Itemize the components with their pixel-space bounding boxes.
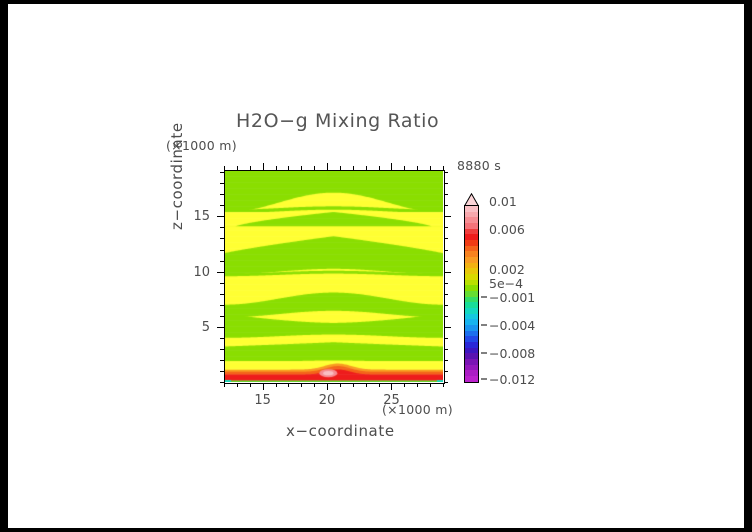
colorbar-tick-label: −0.012 xyxy=(489,372,535,387)
tick-mark xyxy=(263,383,264,390)
tick-mark xyxy=(250,383,251,387)
tick-mark xyxy=(404,383,405,387)
tick-mark xyxy=(444,305,448,306)
tick-mark xyxy=(314,166,315,170)
tick-mark xyxy=(379,166,380,170)
window-border-top xyxy=(0,0,752,4)
tick-mark xyxy=(444,216,451,217)
timestamp-label: 8880 s xyxy=(457,160,501,173)
tick-mark xyxy=(444,261,448,262)
colorbar-tick-label: −0.004 xyxy=(489,318,535,333)
colorbar-tick-label: 5e−4 xyxy=(489,276,523,291)
colorbar-tick-mark xyxy=(481,296,487,298)
tick-mark xyxy=(314,383,315,387)
colorbar-tick-label: 0.01 xyxy=(489,194,517,209)
window-border-bottom xyxy=(0,528,752,532)
x-axis-units-label: (×1000 m) xyxy=(382,404,453,417)
tick-mark xyxy=(220,227,224,228)
tick-mark xyxy=(430,383,431,387)
tick-mark xyxy=(220,371,224,372)
colorbar-tick-label: 0.002 xyxy=(489,262,525,277)
tick-mark xyxy=(220,238,224,239)
colorbar-band xyxy=(465,376,478,382)
page-title: H2O−g Mixing Ratio xyxy=(236,112,439,131)
tick-mark xyxy=(444,183,448,184)
tick-mark xyxy=(417,383,418,387)
tick-mark xyxy=(444,327,451,328)
tick-mark xyxy=(444,294,448,295)
tick-mark xyxy=(327,163,328,170)
tick-mark xyxy=(379,383,380,387)
tick-mark xyxy=(404,166,405,170)
tick-mark xyxy=(220,294,224,295)
tick-mark xyxy=(444,205,448,206)
window-border-right xyxy=(744,0,752,532)
tick-mark xyxy=(220,250,224,251)
x-tick-label: 15 xyxy=(250,393,276,408)
tick-mark xyxy=(220,382,224,383)
x-axis-title: x−coordinate xyxy=(286,424,395,439)
figure-window: H2O−g Mixing Ratio (×1000 m) 8880 s 5101… xyxy=(0,0,752,532)
tick-mark xyxy=(288,166,289,170)
tick-mark xyxy=(444,360,448,361)
tick-mark xyxy=(444,272,451,273)
tick-mark xyxy=(220,349,224,350)
tick-mark xyxy=(301,383,302,387)
tick-mark xyxy=(444,371,448,372)
tick-mark xyxy=(417,166,418,170)
tick-mark xyxy=(237,383,238,387)
tick-mark xyxy=(220,338,224,339)
tick-mark xyxy=(224,166,225,170)
tick-mark xyxy=(353,383,354,387)
tick-mark xyxy=(250,166,251,170)
tick-mark xyxy=(327,383,328,390)
tick-mark xyxy=(301,166,302,170)
tick-mark xyxy=(220,183,224,184)
tick-mark xyxy=(444,316,448,317)
colorbar-tick-label: −0.008 xyxy=(489,346,535,361)
tick-mark xyxy=(391,383,392,390)
tick-mark xyxy=(391,163,392,170)
y-tick-label: 10 xyxy=(186,265,210,280)
tick-mark xyxy=(276,166,277,170)
tick-mark xyxy=(220,360,224,361)
tick-mark xyxy=(444,338,448,339)
tick-mark xyxy=(217,216,224,217)
colorbar-tick-mark xyxy=(481,378,487,380)
tick-mark xyxy=(366,383,367,387)
colorbar-tick-label: −0.001 xyxy=(489,290,535,305)
tick-mark xyxy=(444,382,448,383)
tick-mark xyxy=(366,166,367,170)
tick-mark xyxy=(443,166,444,170)
tick-mark xyxy=(220,205,224,206)
colorbar-tick-label: 0.006 xyxy=(489,222,525,237)
tick-mark xyxy=(237,166,238,170)
colorbar-tick-mark xyxy=(481,352,487,354)
tick-mark xyxy=(220,261,224,262)
tick-mark xyxy=(220,194,224,195)
tick-mark xyxy=(444,283,448,284)
tick-mark xyxy=(220,172,224,173)
tick-mark xyxy=(443,383,444,387)
tick-mark xyxy=(444,172,448,173)
tick-mark xyxy=(220,316,224,317)
tick-mark xyxy=(288,383,289,387)
tick-mark xyxy=(444,227,448,228)
contour-field-canvas xyxy=(224,170,443,382)
tick-mark xyxy=(220,283,224,284)
tick-mark xyxy=(353,166,354,170)
tick-mark xyxy=(444,250,448,251)
tick-mark xyxy=(217,272,224,273)
tick-mark xyxy=(444,238,448,239)
tick-mark xyxy=(430,166,431,170)
y-axis-title: z−coordinate xyxy=(170,110,185,230)
contour-plot xyxy=(224,170,443,382)
y-tick-label: 5 xyxy=(186,320,210,335)
colorbar-tick-mark xyxy=(481,324,487,326)
tick-mark xyxy=(444,349,448,350)
tick-mark xyxy=(444,194,448,195)
colorbar xyxy=(464,205,479,383)
tick-mark xyxy=(340,383,341,387)
x-tick-label: 20 xyxy=(314,393,340,408)
tick-mark xyxy=(263,163,264,170)
tick-mark xyxy=(220,305,224,306)
window-border-left xyxy=(0,0,8,532)
tick-mark xyxy=(340,166,341,170)
tick-mark xyxy=(276,383,277,387)
y-tick-label: 15 xyxy=(186,209,210,224)
tick-mark xyxy=(217,327,224,328)
tick-mark xyxy=(224,383,225,387)
